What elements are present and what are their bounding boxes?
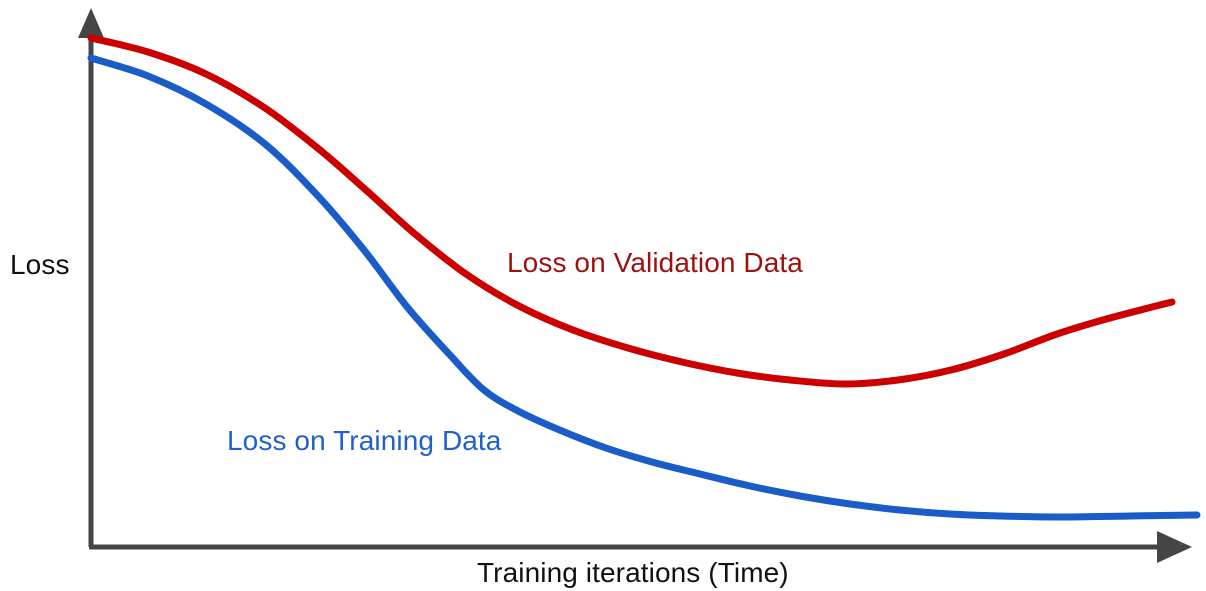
x-axis-label: Training iterations (Time) <box>477 558 789 588</box>
x-axis-arrowhead <box>1157 531 1192 563</box>
y-axis-arrowhead <box>78 8 104 38</box>
plot-area <box>0 0 1206 591</box>
y-axis-label: Loss <box>10 250 70 280</box>
training-series-label: Loss on Training Data <box>227 426 502 456</box>
loss-curve-figure: Loss Training iterations (Time) Loss on … <box>0 0 1206 591</box>
validation-series-label: Loss on Validation Data <box>507 248 803 278</box>
validation-loss-curve <box>91 38 1172 384</box>
